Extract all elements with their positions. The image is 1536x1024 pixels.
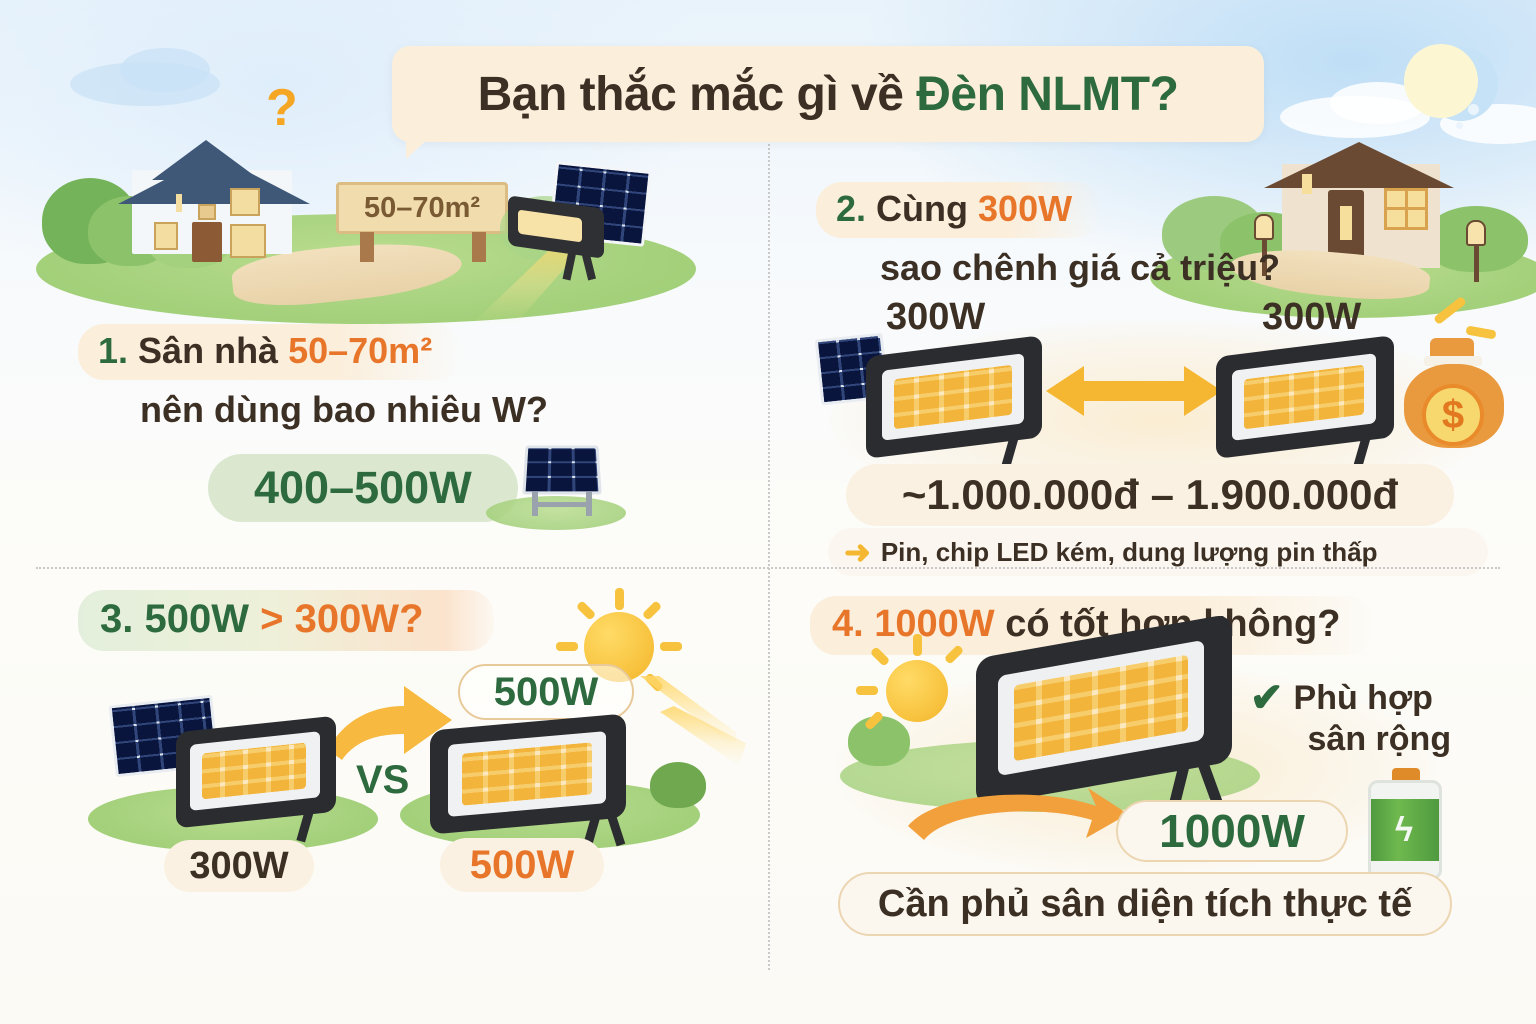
check-icon: ✔	[1250, 678, 1284, 718]
solar-panel-q1-small-illustration	[524, 444, 600, 516]
quadrant-1: 1. Sân nhà 50–70m² nên dùng bao nhiêu W?…	[78, 324, 718, 522]
floodlight-q3-right	[430, 722, 636, 848]
money-bag-icon: $	[1398, 338, 1510, 454]
battery-icon: ϟ	[1366, 768, 1444, 880]
cloud-decor	[120, 48, 210, 92]
sun-ray	[660, 642, 682, 651]
q4-number: 4.	[832, 603, 864, 645]
q2-heading-pre: Cùng	[876, 188, 978, 229]
q4-watt-badge: 1000W	[1116, 800, 1348, 862]
floodlight-q3-left	[176, 724, 346, 842]
q4-watt-badge-label: 1000W	[1159, 804, 1305, 858]
q3-vs-label: VS	[356, 758, 409, 803]
floodlight-q1-illustration	[508, 202, 612, 274]
q1-heading-line2: nên dùng bao nhiêu W?	[140, 388, 718, 431]
q3-heading-accent: > 300W?	[249, 597, 424, 641]
right-arrow-icon: ➜	[844, 536, 871, 568]
title-main: Bạn thắc mắc gì về	[478, 68, 917, 121]
question-mark-decor: ?	[266, 78, 298, 138]
star-dot	[1468, 104, 1479, 115]
sun-ray	[913, 634, 922, 656]
q1-heading-accent: 50–70m²	[288, 330, 432, 371]
q2-heading-pill: 2. Cùng 300W	[816, 182, 1102, 238]
sun-icon	[886, 660, 948, 722]
q3-label-right-badge: 500W	[440, 838, 604, 892]
comparison-arrow-icon	[1046, 362, 1222, 420]
sun-ray	[856, 686, 878, 695]
q1-number: 1.	[98, 330, 128, 371]
q2-heading-accent: 300W	[978, 188, 1072, 229]
infographic-canvas: ? 50–70m² 1. Sân nhà 50–70m² nên dùng ba…	[0, 0, 1536, 1024]
q3-heading-pill: 3. 500W > 300W?	[78, 590, 494, 651]
q2-price-badge: ~1.000.000đ – 1.900.000đ	[846, 464, 1454, 526]
q3-label-left-badge: 300W	[164, 840, 314, 892]
divider-vertical	[768, 140, 770, 970]
q1-heading-pill: 1. Sân nhà 50–70m²	[78, 324, 462, 380]
q2-heading-line2: sao chênh giá cả triệu?	[880, 246, 1516, 289]
title-accent: Đèn NLMT?	[916, 68, 1178, 121]
yard-size-sign: 50–70m²	[336, 182, 508, 242]
star-dot	[1456, 122, 1463, 129]
q4-footer-badge-label: Cần phủ sân diện tích thực tế	[878, 883, 1412, 926]
q2-note-text: Pin, chip LED kém, dung lượng pin thấp	[881, 537, 1378, 568]
sun-ray	[615, 588, 624, 610]
q2-number: 2.	[836, 188, 866, 229]
bush-decor	[848, 716, 910, 766]
q1-answer-badge: 400–500W	[208, 454, 518, 522]
page-title: Bạn thắc mắc gì về Đèn NLMT?	[478, 67, 1179, 122]
q4-curved-arrow-icon	[890, 780, 1130, 854]
floodlight-q2-left	[866, 346, 1052, 472]
sign-label: 50–70m²	[364, 192, 480, 225]
q4-check-line1: Phù hợp	[1294, 678, 1452, 719]
q2-label-left: 300W	[886, 296, 985, 339]
q4-check-line2: sân rộng	[1308, 719, 1452, 760]
quadrant-2: 2. Cùng 300W sao chênh giá cả triệu?	[816, 182, 1516, 290]
bush-decor	[650, 762, 706, 808]
q4-check-row: ✔ Phù hợp sân rộng	[1250, 678, 1451, 760]
floodlight-q2-right	[1216, 346, 1406, 472]
house-illustration-q1	[118, 126, 306, 254]
q4-footer-badge: Cần phủ sân diện tích thực tế	[838, 872, 1452, 936]
q3-top-badge: 500W	[458, 664, 634, 720]
q3-heading-pre: 500W	[144, 597, 249, 641]
title-speech-bubble: Bạn thắc mắc gì về Đèn NLMT?	[392, 46, 1264, 142]
q2-label-right: 300W	[1262, 296, 1361, 339]
divider-horizontal	[36, 567, 1500, 569]
sun-ray	[556, 642, 578, 651]
q1-heading-pre: Sân nhà	[138, 330, 288, 371]
q3-number: 3.	[100, 597, 133, 641]
